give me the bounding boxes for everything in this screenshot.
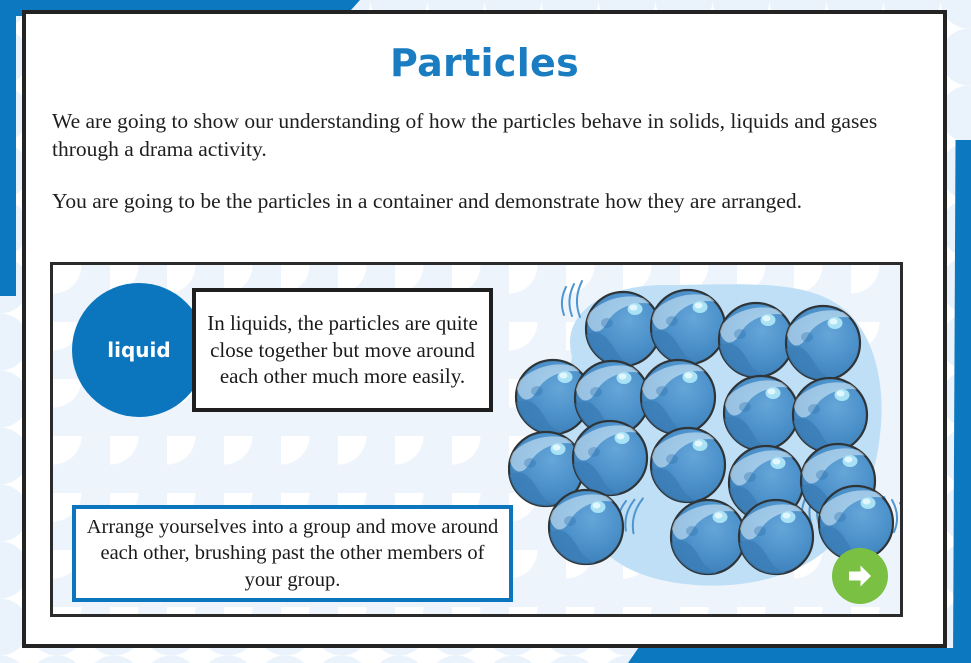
- liquid-description-text: In liquids, the particles are quite clos…: [206, 310, 479, 389]
- arrow-right-icon: [843, 559, 877, 593]
- slide-card: Particles We are going to show our under…: [22, 10, 947, 648]
- accent-bar-right: [953, 140, 971, 663]
- intro-paragraph-2: You are going to be the particles in a c…: [52, 187, 917, 215]
- activity-instruction-text: Arrange yourselves into a group and move…: [86, 514, 499, 592]
- accent-bar-left: [0, 0, 16, 296]
- liquid-description-box: In liquids, the particles are quite clos…: [192, 288, 493, 412]
- state-badge-label: liquid: [107, 338, 170, 362]
- liquid-panel: liquid In liquids, the particles are qui…: [50, 262, 903, 617]
- state-badge-liquid: liquid: [72, 283, 206, 417]
- accent-bar-bottom-right: [628, 648, 971, 663]
- motion-lines-top-left: [562, 281, 582, 317]
- page-title: Particles: [26, 41, 943, 85]
- activity-instruction-box: Arrange yourselves into a group and move…: [72, 505, 513, 602]
- next-button[interactable]: [832, 548, 888, 604]
- intro-paragraph-1: We are going to show our understanding o…: [52, 107, 917, 164]
